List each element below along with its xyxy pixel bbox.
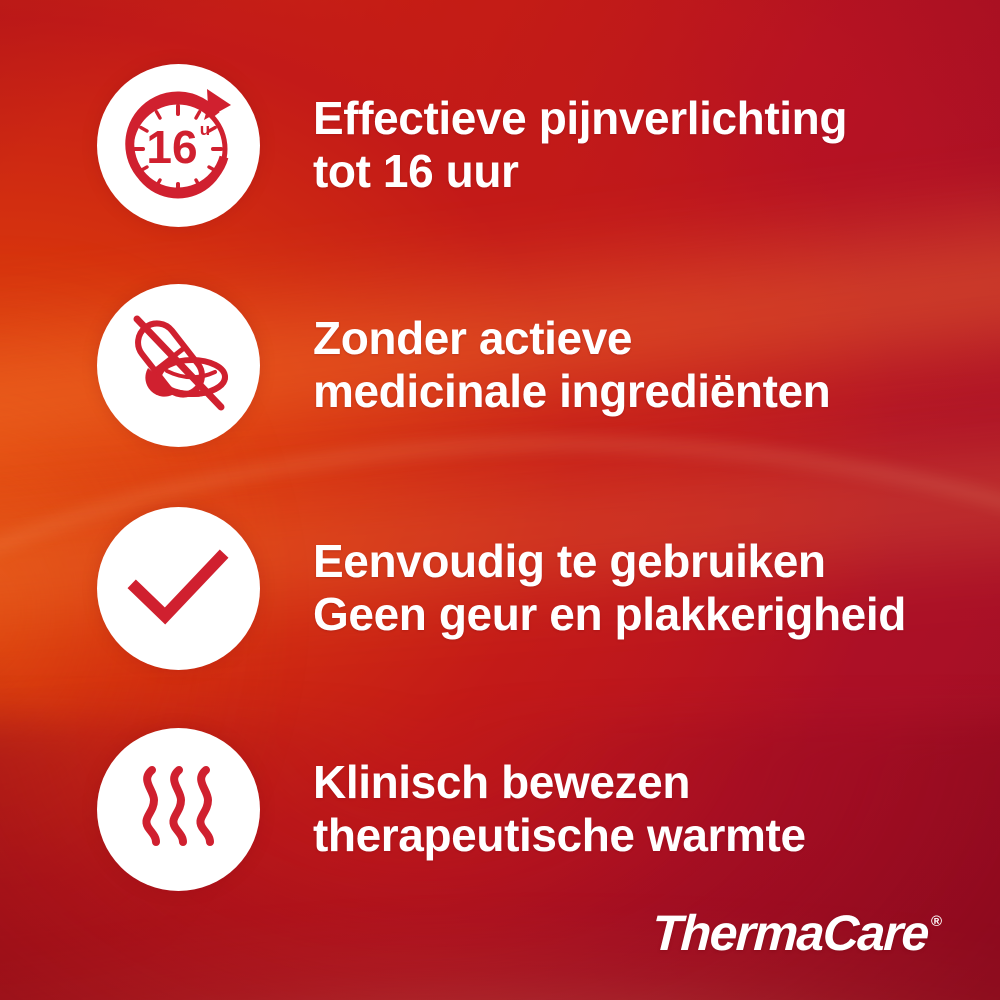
icon-circle-background bbox=[97, 507, 260, 670]
clock-16-hours-icon: 16 u bbox=[112, 79, 244, 211]
brand-logo-wordmark: ThermaCare bbox=[651, 908, 929, 958]
heat-waves-icon bbox=[123, 754, 233, 864]
feature-icon-container bbox=[88, 284, 268, 447]
no-pills-icon bbox=[118, 305, 238, 425]
feature-icon-container bbox=[88, 728, 268, 891]
feature-list: 16 u Effectieve pijnverlichting tot 16 u… bbox=[0, 0, 1000, 1000]
feature-item-easy-to-use: Eenvoudig te gebruiken Geen geur en plak… bbox=[0, 495, 1000, 681]
checkmark-icon bbox=[120, 530, 236, 646]
icon-circle-background bbox=[97, 284, 260, 447]
feature-item-no-medication: Zonder actieve medicinale ingrediënten bbox=[0, 272, 1000, 458]
svg-text:u: u bbox=[200, 120, 210, 139]
feature-icon-container: 16 u bbox=[88, 64, 268, 227]
feature-label: Zonder actieve medicinale ingrediënten bbox=[313, 312, 830, 419]
icon-circle-background bbox=[97, 728, 260, 891]
feature-item-therapeutic-heat: Klinisch bewezen therapeutische warmte bbox=[0, 716, 1000, 902]
brand-logo: ThermaCare ® bbox=[652, 908, 942, 958]
icon-circle-background: 16 u bbox=[97, 64, 260, 227]
feature-icon-container bbox=[88, 507, 268, 670]
promotional-poster: 16 u Effectieve pijnverlichting tot 16 u… bbox=[0, 0, 1000, 1000]
feature-label: Eenvoudig te gebruiken Geen geur en plak… bbox=[313, 535, 906, 642]
feature-label: Klinisch bewezen therapeutische warmte bbox=[313, 756, 806, 863]
feature-item-duration: 16 u Effectieve pijnverlichting tot 16 u… bbox=[0, 52, 1000, 238]
registered-trademark-symbol: ® bbox=[931, 914, 942, 929]
feature-label: Effectieve pijnverlichting tot 16 uur bbox=[313, 92, 847, 199]
svg-text:16: 16 bbox=[146, 121, 197, 173]
